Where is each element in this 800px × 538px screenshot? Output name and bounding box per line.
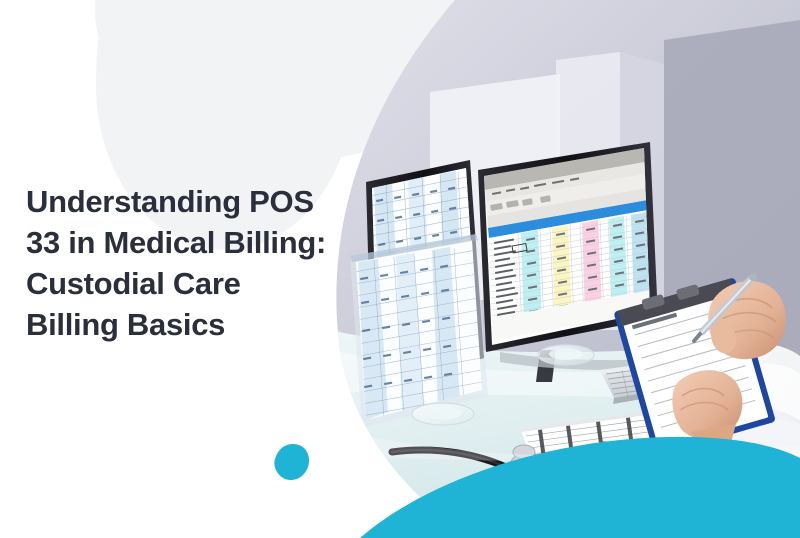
page-title: Understanding POS 33 in Medical Billing:… — [26, 181, 376, 345]
banner-canvas: Understanding POS 33 in Medical Billing:… — [0, 0, 800, 538]
